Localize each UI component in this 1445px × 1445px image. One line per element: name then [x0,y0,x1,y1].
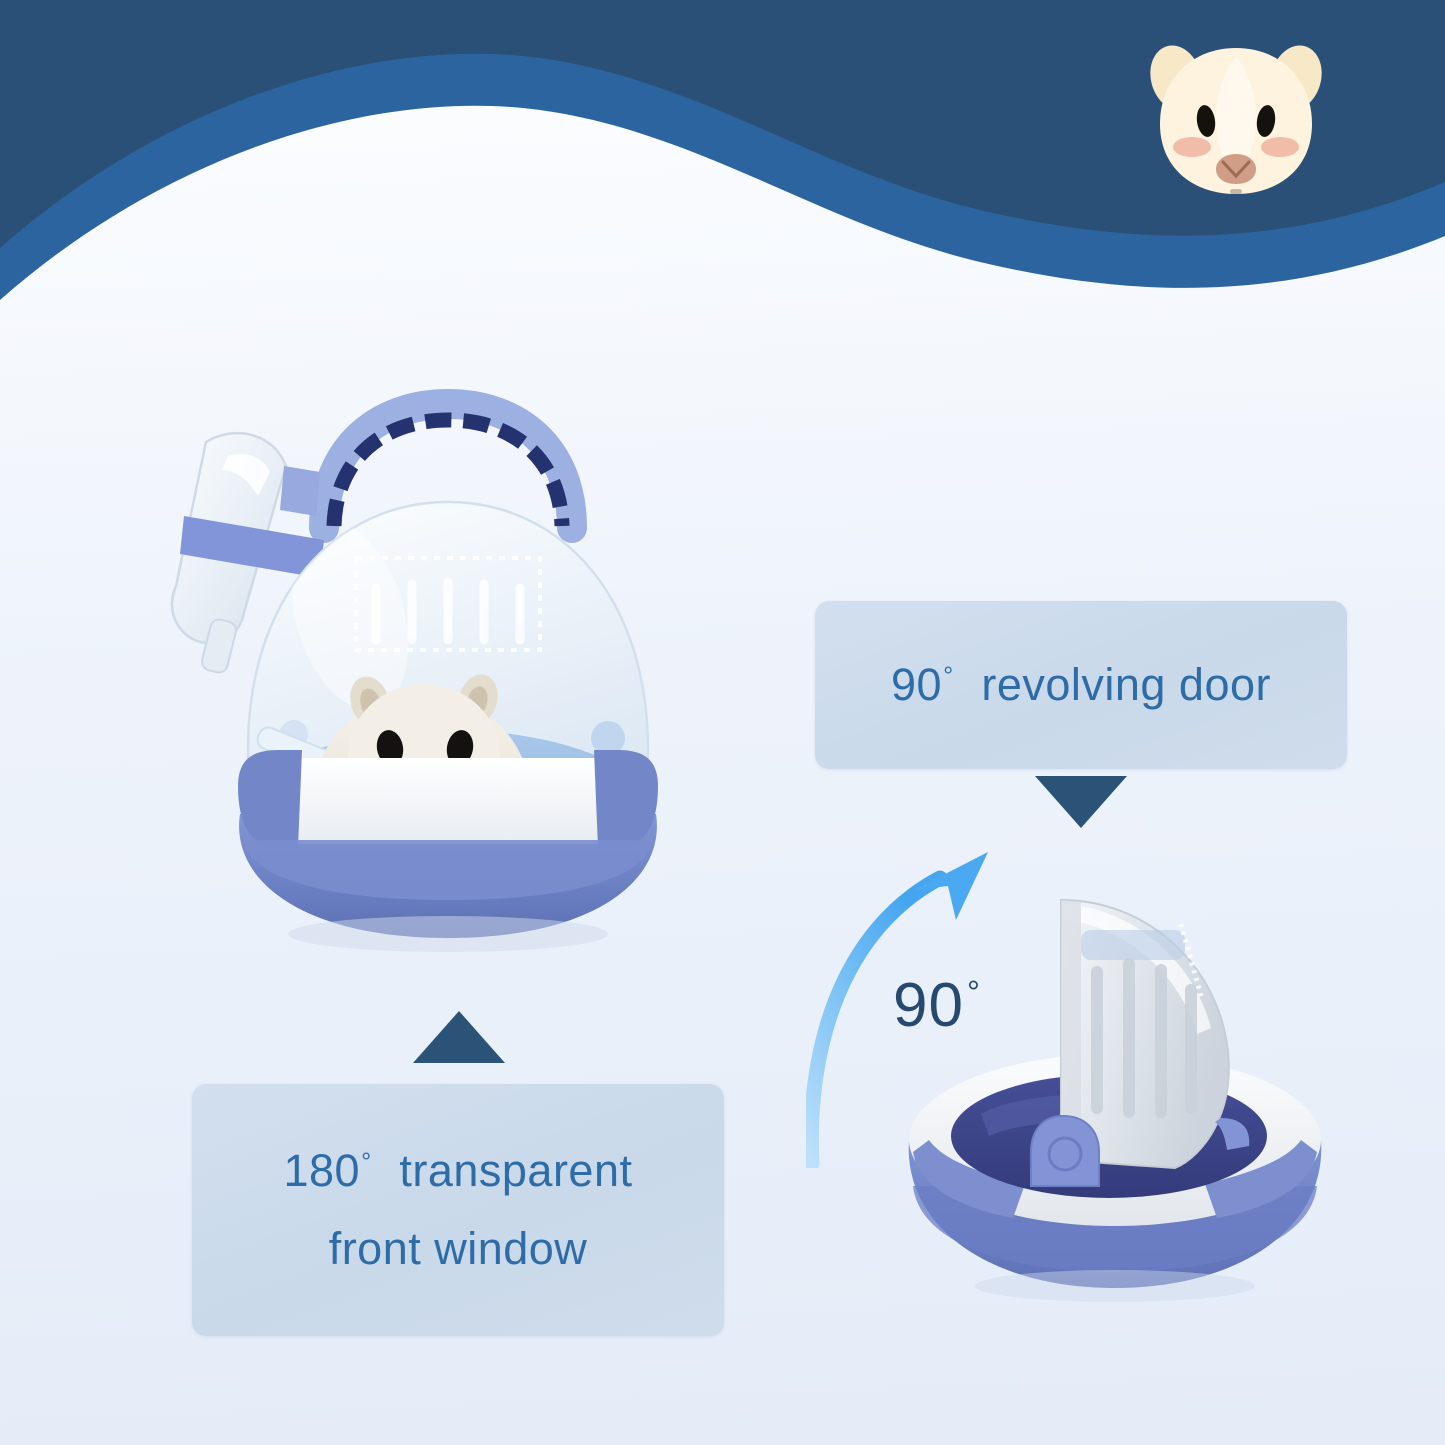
pointer-triangle-up-icon [413,1011,505,1063]
dome-side-port-right [591,721,625,755]
hamster-face-logo-icon [1138,26,1334,222]
degree-symbol-icon: ° [943,662,954,691]
hamster-nose [1216,154,1256,184]
window-angle-value: 180 [284,1145,361,1196]
revolving-door-label: revolving door [981,659,1271,710]
bottle-strap-clip [280,466,320,516]
rotation-angle-value: 90 [893,971,964,1040]
brand-logo [1138,26,1334,222]
door-vent-window [1081,930,1185,960]
infographic-page: 90° 90°revolving door 180°transparent fr… [0,0,1445,1445]
callout-window-line-1: 180°transparent [284,1145,633,1197]
callout-revolving-door: 90°revolving door [815,601,1347,769]
pointer-triangle-down-icon [1035,776,1127,828]
rotation-arrow-head [914,852,988,920]
hamster-mouth [1230,189,1242,194]
hamster-cheek-left [1173,137,1211,157]
carrier-base-shadow [288,916,608,952]
callout-revolving-door-text: 90°revolving door [891,659,1271,711]
hamster-cheek-right [1261,137,1299,157]
revolving-door-angle-value: 90 [891,659,942,710]
callout-transparent-window: 180°transparent front window [192,1084,724,1336]
degree-symbol-icon: ° [967,974,981,1011]
rotation-angle-label: 90° [893,970,994,1041]
callout-window-line-2: front window [329,1223,588,1275]
window-label-part-2: front window [329,1223,588,1274]
product-photo-carrier-closed [88,320,788,1020]
open-carrier-shadow [975,1270,1255,1302]
window-label-part-1: transparent [399,1145,632,1196]
degree-symbol-icon: ° [361,1148,372,1177]
